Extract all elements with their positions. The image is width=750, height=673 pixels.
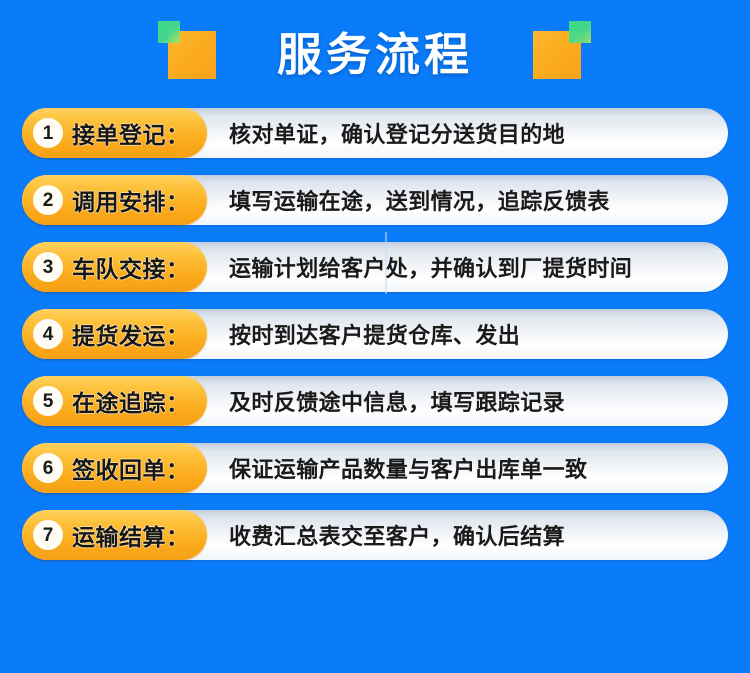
step-row[interactable]: 6 签收回单： 保证运输产品数量与客户出库单一致 bbox=[22, 443, 728, 493]
step-label-pill: 3 车队交接： bbox=[22, 242, 207, 292]
step-description: 核对单证，确认登记分送货目的地 bbox=[207, 108, 728, 158]
step-number-badge: 3 bbox=[33, 252, 63, 282]
step-label-pill: 6 签收回单： bbox=[22, 443, 207, 493]
step-description: 运输计划给客户处，并确认到厂提货时间 bbox=[207, 242, 728, 292]
step-label-pill: 4 提货发运： bbox=[22, 309, 207, 359]
green-square-icon bbox=[569, 21, 591, 43]
step-row[interactable]: 7 运输结算： 收费汇总表交至客户，确认后结算 bbox=[22, 510, 728, 560]
step-number-badge: 1 bbox=[33, 118, 63, 148]
step-description: 收费汇总表交至客户，确认后结算 bbox=[207, 510, 728, 560]
step-label-pill: 1 接单登记： bbox=[22, 108, 207, 158]
step-row[interactable]: 1 接单登记： 核对单证，确认登记分送货目的地 bbox=[22, 108, 728, 158]
step-description: 及时反馈途中信息，填写跟踪记录 bbox=[207, 376, 728, 426]
step-number-badge: 2 bbox=[33, 185, 63, 215]
step-row[interactable]: 2 调用安排： 填写运输在途，送到情况，追踪反馈表 bbox=[22, 175, 728, 225]
step-name: 调用安排： bbox=[72, 183, 190, 217]
step-description: 按时到达客户提货仓库、发出 bbox=[207, 309, 728, 359]
decorative-square-right bbox=[533, 31, 581, 79]
step-row[interactable]: 4 提货发运： 按时到达客户提货仓库、发出 bbox=[22, 309, 728, 359]
step-description: 保证运输产品数量与客户出库单一致 bbox=[207, 443, 728, 493]
step-label-pill: 7 运输结算： bbox=[22, 510, 207, 560]
service-process-list: 1 接单登记： 核对单证，确认登记分送货目的地 2 调用安排： 填写运输在途，送… bbox=[0, 108, 750, 560]
step-name: 提货发运： bbox=[72, 317, 190, 351]
page-header: 服务流程 bbox=[0, 0, 750, 108]
step-description: 填写运输在途，送到情况，追踪反馈表 bbox=[207, 175, 728, 225]
step-name: 在途追踪： bbox=[72, 384, 190, 418]
decorative-square-left bbox=[168, 31, 216, 79]
step-label-pill: 2 调用安排： bbox=[22, 175, 207, 225]
step-label-pill: 5 在途追踪： bbox=[22, 376, 207, 426]
step-number-badge: 5 bbox=[33, 386, 63, 416]
step-number-badge: 6 bbox=[33, 453, 63, 483]
step-number-badge: 4 bbox=[33, 319, 63, 349]
green-square-icon bbox=[158, 21, 180, 43]
step-row[interactable]: 5 在途追踪： 及时反馈途中信息，填写跟踪记录 bbox=[22, 376, 728, 426]
step-number-badge: 7 bbox=[33, 520, 63, 550]
step-name: 签收回单： bbox=[72, 451, 190, 485]
step-name: 接单登记： bbox=[72, 116, 190, 150]
page-title: 服务流程 bbox=[277, 32, 473, 77]
step-name: 运输结算： bbox=[72, 518, 190, 552]
step-name: 车队交接： bbox=[72, 250, 190, 284]
step-row[interactable]: 3 车队交接： 运输计划给客户处，并确认到厂提货时间 bbox=[22, 242, 728, 292]
